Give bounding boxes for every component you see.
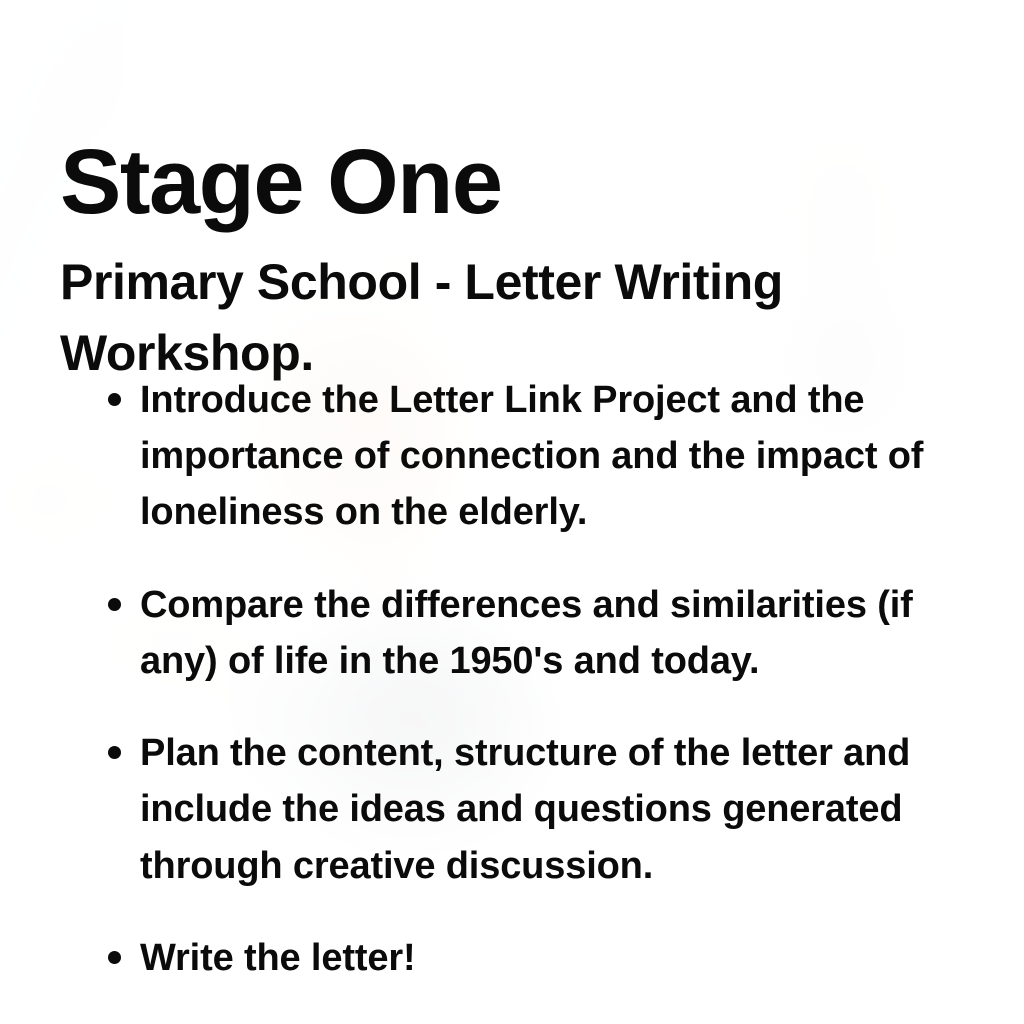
bullet-dot-icon — [108, 598, 121, 611]
bullet-text: Write the letter! — [140, 930, 960, 986]
bullet-text: Introduce the Letter Link Project and th… — [140, 372, 960, 541]
bullet-text: Compare the differences and similarities… — [140, 577, 960, 689]
slide-subtitle: Primary School - Letter Writing Workshop… — [60, 247, 940, 389]
list-item: Introduce the Letter Link Project and th… — [104, 372, 960, 541]
bullet-text: Plan the content, structure of the lette… — [140, 725, 960, 894]
presentation-slide: Stage One Primary School - Letter Writin… — [0, 0, 1024, 1024]
list-item: Compare the differences and similarities… — [104, 577, 960, 689]
bullet-list: Introduce the Letter Link Project and th… — [104, 372, 960, 986]
list-item: Plan the content, structure of the lette… — [104, 725, 960, 894]
bullet-dot-icon — [108, 393, 121, 406]
bullet-dot-icon — [108, 746, 121, 759]
slide-title: Stage One — [60, 136, 502, 228]
list-item: Write the letter! — [104, 930, 960, 986]
slide-content: Stage One Primary School - Letter Writin… — [0, 0, 1024, 1024]
bullet-dot-icon — [108, 951, 121, 964]
